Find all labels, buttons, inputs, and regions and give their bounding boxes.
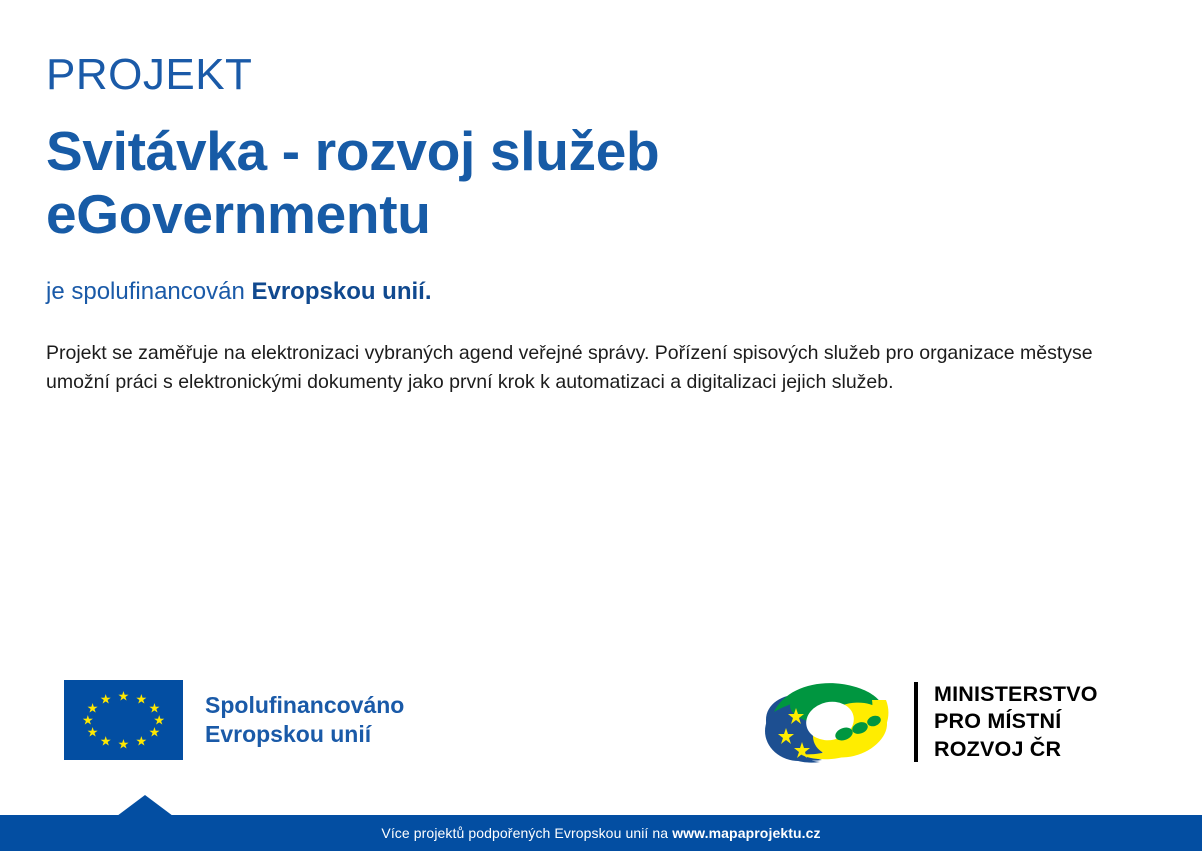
eu-logo: ★★★★★★★★★★★★ Spolufinancováno Evropskou … bbox=[64, 680, 404, 760]
eu-star-icon: ★ bbox=[136, 693, 148, 706]
logo-row: ★★★★★★★★★★★★ Spolufinancováno Evropskou … bbox=[0, 668, 1202, 778]
ministry-divider bbox=[914, 682, 918, 762]
mmr-emblem-icon bbox=[758, 676, 898, 768]
eu-star-icon: ★ bbox=[118, 690, 130, 703]
page-title: Svitávka - rozvoj služeb eGovernmentu bbox=[46, 120, 846, 245]
cofinancing-emphasis: Evropskou unií. bbox=[251, 278, 431, 305]
eu-star-icon: ★ bbox=[118, 738, 130, 751]
kicker-label: PROJEKT bbox=[46, 52, 1146, 98]
footer-notch-arrow bbox=[117, 795, 173, 816]
project-poster: PROJEKT Svitávka - rozvoj služeb eGovern… bbox=[0, 0, 1202, 851]
mapaprojektu-link[interactable]: www.mapaprojektu.cz bbox=[672, 825, 820, 841]
eu-star-icon: ★ bbox=[149, 726, 161, 739]
ministry-logo-label: MINISTERSTVO PRO MÍSTNÍ ROZVOJ ČR bbox=[934, 681, 1098, 762]
footer-content: Více projektů podpořených Evropskou unií… bbox=[0, 815, 1202, 851]
eu-logo-label: Spolufinancováno Evropskou unií bbox=[205, 691, 404, 750]
footer-label: Více projektů podpořených Evropskou unií… bbox=[381, 825, 668, 841]
content-block: PROJEKT Svitávka - rozvoj služeb eGovern… bbox=[46, 52, 1146, 398]
project-description: Projekt se zaměřuje na elektronizaci vyb… bbox=[46, 339, 1096, 398]
eu-star-icon: ★ bbox=[100, 734, 112, 747]
cofinancing-prefix: je spolufinancován bbox=[46, 278, 251, 305]
eu-flag-icon: ★★★★★★★★★★★★ bbox=[64, 680, 183, 760]
eu-star-icon: ★ bbox=[100, 693, 112, 706]
eu-star-icon: ★ bbox=[87, 702, 99, 715]
cofinancing-line: je spolufinancován Evropskou unií. bbox=[46, 276, 1146, 307]
eu-star-icon: ★ bbox=[136, 734, 148, 747]
ministry-logo: MINISTERSTVO PRO MÍSTNÍ ROZVOJ ČR bbox=[758, 676, 1098, 768]
